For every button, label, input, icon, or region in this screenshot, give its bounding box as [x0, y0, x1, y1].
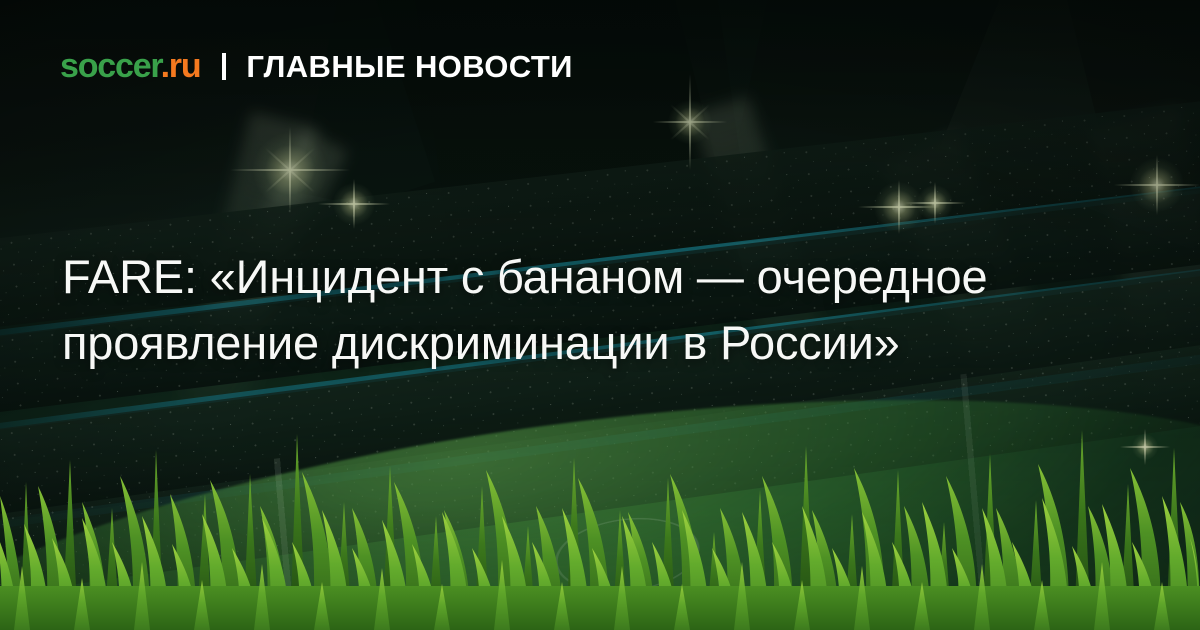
logo-tld: .ru — [161, 47, 201, 85]
section-kicker: ГЛАВНЫЕ НОВОСТИ — [246, 51, 572, 82]
soccer-ru-logo[interactable]: soccer.ru — [60, 49, 200, 83]
page-title: FARE: «Инцидент с бананом — очередное пр… — [62, 244, 1022, 376]
card-header: soccer.ru ГЛАВНЫЕ НОВОСТИ — [60, 49, 573, 83]
vertical-bar-icon — [222, 53, 226, 80]
logo-word: soccer — [60, 47, 161, 85]
grass-foreground — [0, 390, 1200, 630]
news-share-card: soccer.ru ГЛАВНЫЕ НОВОСТИ FARE: «Инциден… — [0, 0, 1200, 630]
